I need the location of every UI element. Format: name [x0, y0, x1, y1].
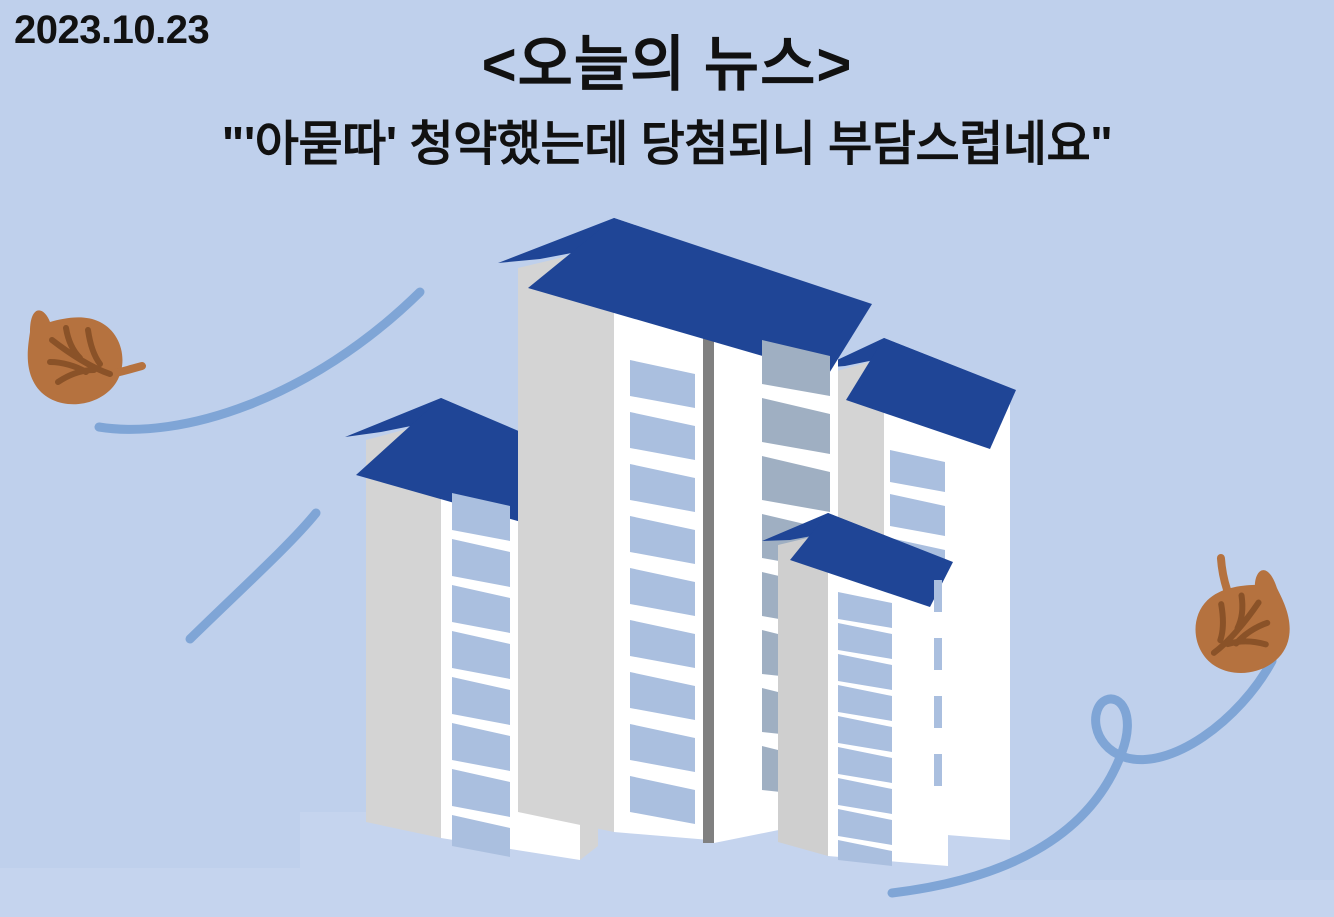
- center-building-side-face: [518, 245, 614, 832]
- center-building-windows-left: [630, 360, 695, 824]
- front-right-building-windows: [838, 592, 892, 866]
- news-card: 2023.10.23 <오늘의 뉴스> "'아묻따' 청약했는데 당첨되니 부담…: [0, 0, 1334, 917]
- page-subtitle: "'아묻따' 청약했는데 당첨되니 부담스럽네요": [0, 104, 1334, 174]
- front-right-building: [762, 513, 953, 866]
- front-right-building-side-face: [778, 533, 828, 856]
- page-title: <오늘의 뉴스>: [0, 16, 1334, 103]
- center-building-seam: [703, 268, 714, 843]
